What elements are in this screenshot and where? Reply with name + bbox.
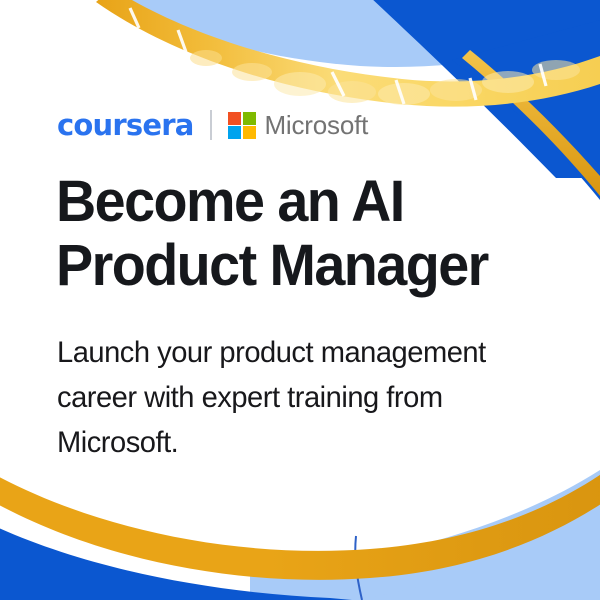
subheadline: Launch your product management career wi…: [57, 330, 542, 465]
promo-card: coursera Microsoft Become an AI Product …: [0, 0, 600, 600]
gold-ribbon-texture: [190, 50, 580, 105]
top-light-blue-shape: [74, 0, 560, 70]
microsoft-logo-icon: [228, 112, 255, 139]
gold-ribbon-slashes: [130, 8, 546, 104]
lockup-divider: [210, 110, 212, 140]
top-right-blue-wedge: [352, 0, 600, 178]
bottom-light-blue-field: [352, 502, 600, 600]
subcopy-line-1: Launch your product management: [57, 330, 542, 375]
bottom-light-blue-shape: [250, 470, 600, 600]
decorative-background: [0, 0, 600, 600]
subcopy-line-2: career with expert training from: [57, 375, 542, 420]
page-title: Become an AI Product Manager: [56, 170, 517, 298]
bottom-gold-arc: [0, 468, 600, 580]
top-gold-ribbon: [96, 0, 600, 107]
microsoft-tile-green: [243, 112, 256, 125]
top-light-blue-lobe: [60, 0, 600, 67]
microsoft-tile-red: [228, 112, 241, 125]
brand-lockup: coursera Microsoft: [57, 108, 368, 142]
microsoft-tile-yellow: [243, 126, 256, 139]
bottom-blue-hairline: [355, 536, 362, 600]
subcopy-line-3: Microsoft.: [57, 420, 542, 465]
microsoft-logo-text: Microsoft: [264, 112, 368, 138]
headline-line-2: Product Manager: [56, 234, 517, 298]
coursera-logo: coursera: [57, 111, 193, 140]
microsoft-tile-blue: [228, 126, 241, 139]
bottom-deep-blue-shape: [0, 524, 352, 600]
headline-line-1: Become an AI: [56, 170, 517, 234]
